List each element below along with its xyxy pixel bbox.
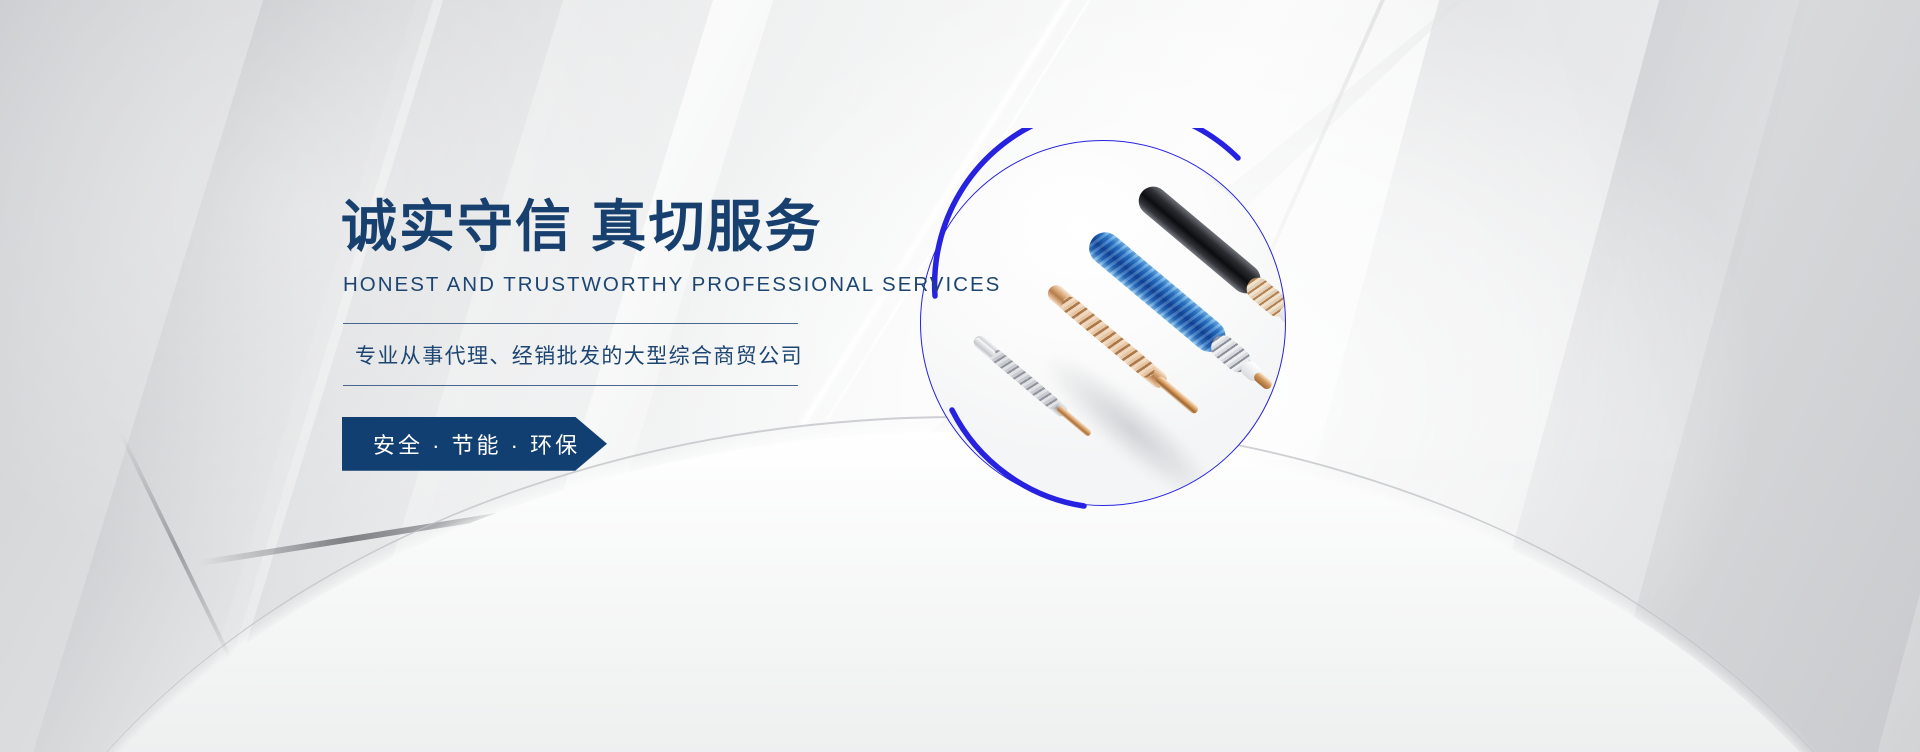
divider-top [343,323,798,324]
hero-banner: 诚实守信 真切服务 HONEST AND TRUSTWORTHY PROFESS… [0,0,1920,752]
banner-subtitle-english: HONEST AND TRUSTWORTHY PROFESSIONAL SERV… [343,273,901,297]
banner-tagline: 专业从事代理、经销批发的大型综合商贸公司 [355,340,901,370]
divider-bottom [343,385,798,386]
circle-accent-arc-icon [908,128,1298,518]
banner-title: 诚实守信 真切服务 [341,196,901,259]
features-badge-label: 安全 · 节能 · 环保 [373,428,580,460]
product-circle [908,128,1298,518]
features-badge[interactable]: 安全 · 节能 · 环保 [342,417,607,471]
banner-text-block: 诚实守信 真切服务 HONEST AND TRUSTWORTHY PROFESS… [341,196,901,471]
